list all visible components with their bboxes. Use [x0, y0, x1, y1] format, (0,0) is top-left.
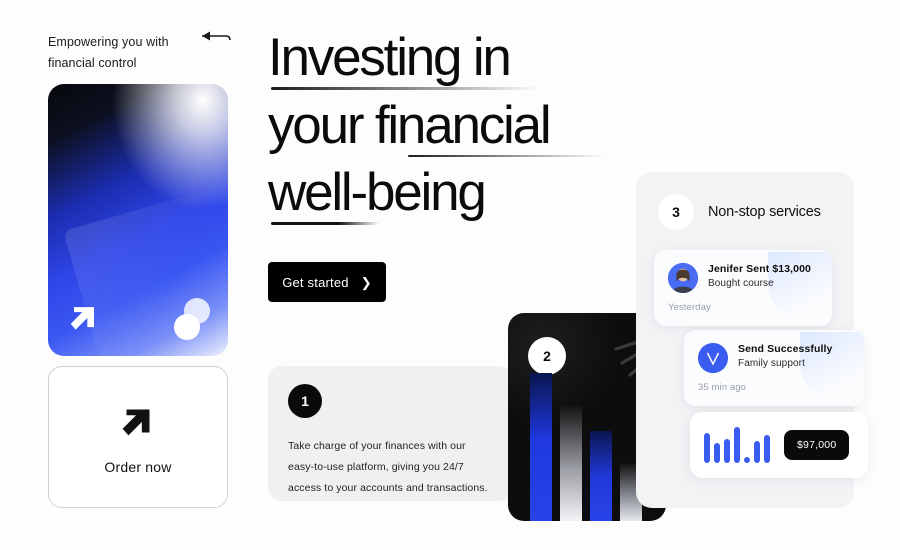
mini-bar-chart	[704, 427, 770, 463]
credit-card-visual	[48, 84, 228, 356]
notification-subtitle: Family support	[738, 358, 833, 369]
arrow-up-right-logo	[115, 399, 161, 445]
order-now-card[interactable]: Order now	[48, 366, 228, 508]
bar-3	[724, 439, 730, 463]
balance-chart-card[interactable]: $97,000	[690, 412, 868, 478]
arrow-up-right-logo	[64, 298, 104, 338]
headline-text-1: Investing in	[268, 22, 628, 94]
notification-title: Jenifer Sent $13,000	[708, 263, 811, 275]
step-one-text: Take charge of your finances with our ea…	[288, 436, 493, 499]
letter-v-avatar	[698, 343, 728, 373]
step-two-badge: 2	[528, 337, 566, 375]
headline-text-3: well-being	[268, 157, 628, 229]
services-badge: 3	[658, 194, 694, 230]
headline-line-3: well-being	[268, 157, 628, 225]
bar-2	[714, 443, 720, 463]
bar-3	[590, 371, 612, 521]
services-panel-header: 3 Non-stop services	[636, 172, 854, 230]
notification-title: Send Successfully	[738, 343, 833, 355]
get-started-button[interactable]: Get started ❯	[268, 262, 386, 302]
step-one-card: 1 Take charge of your finances with our …	[268, 366, 513, 501]
bar-4	[734, 427, 740, 463]
notification-item[interactable]: Send Successfully Family support 35 min …	[684, 330, 864, 406]
bar-7	[764, 435, 770, 463]
step-one-badge: 1	[288, 384, 322, 418]
headline-text-2: your financial	[268, 90, 628, 162]
chevron-right-icon: ❯	[361, 276, 372, 289]
eyebrow-text: Empowering you with financial control	[48, 32, 198, 73]
notification-subtitle: Bought course	[708, 278, 811, 289]
bar-1	[530, 371, 552, 521]
page-title: Investing in your financial well-being	[268, 22, 628, 225]
notification-item[interactable]: Jenifer Sent $13,000 Bought course Yeste…	[654, 250, 832, 326]
dual-circles-icon	[166, 298, 212, 340]
order-now-label: Order now	[104, 459, 171, 475]
bar-5	[744, 457, 750, 463]
services-title: Non-stop services	[708, 204, 821, 220]
bar-1	[704, 433, 710, 463]
headline-line-1: Investing in	[268, 22, 628, 90]
bar-2	[560, 371, 582, 521]
headline-line-2: your financial	[268, 90, 628, 158]
bar-6	[754, 441, 760, 463]
user-photo-avatar	[668, 263, 698, 293]
get-started-label: Get started	[282, 275, 349, 290]
balance-amount: $97,000	[784, 430, 849, 460]
